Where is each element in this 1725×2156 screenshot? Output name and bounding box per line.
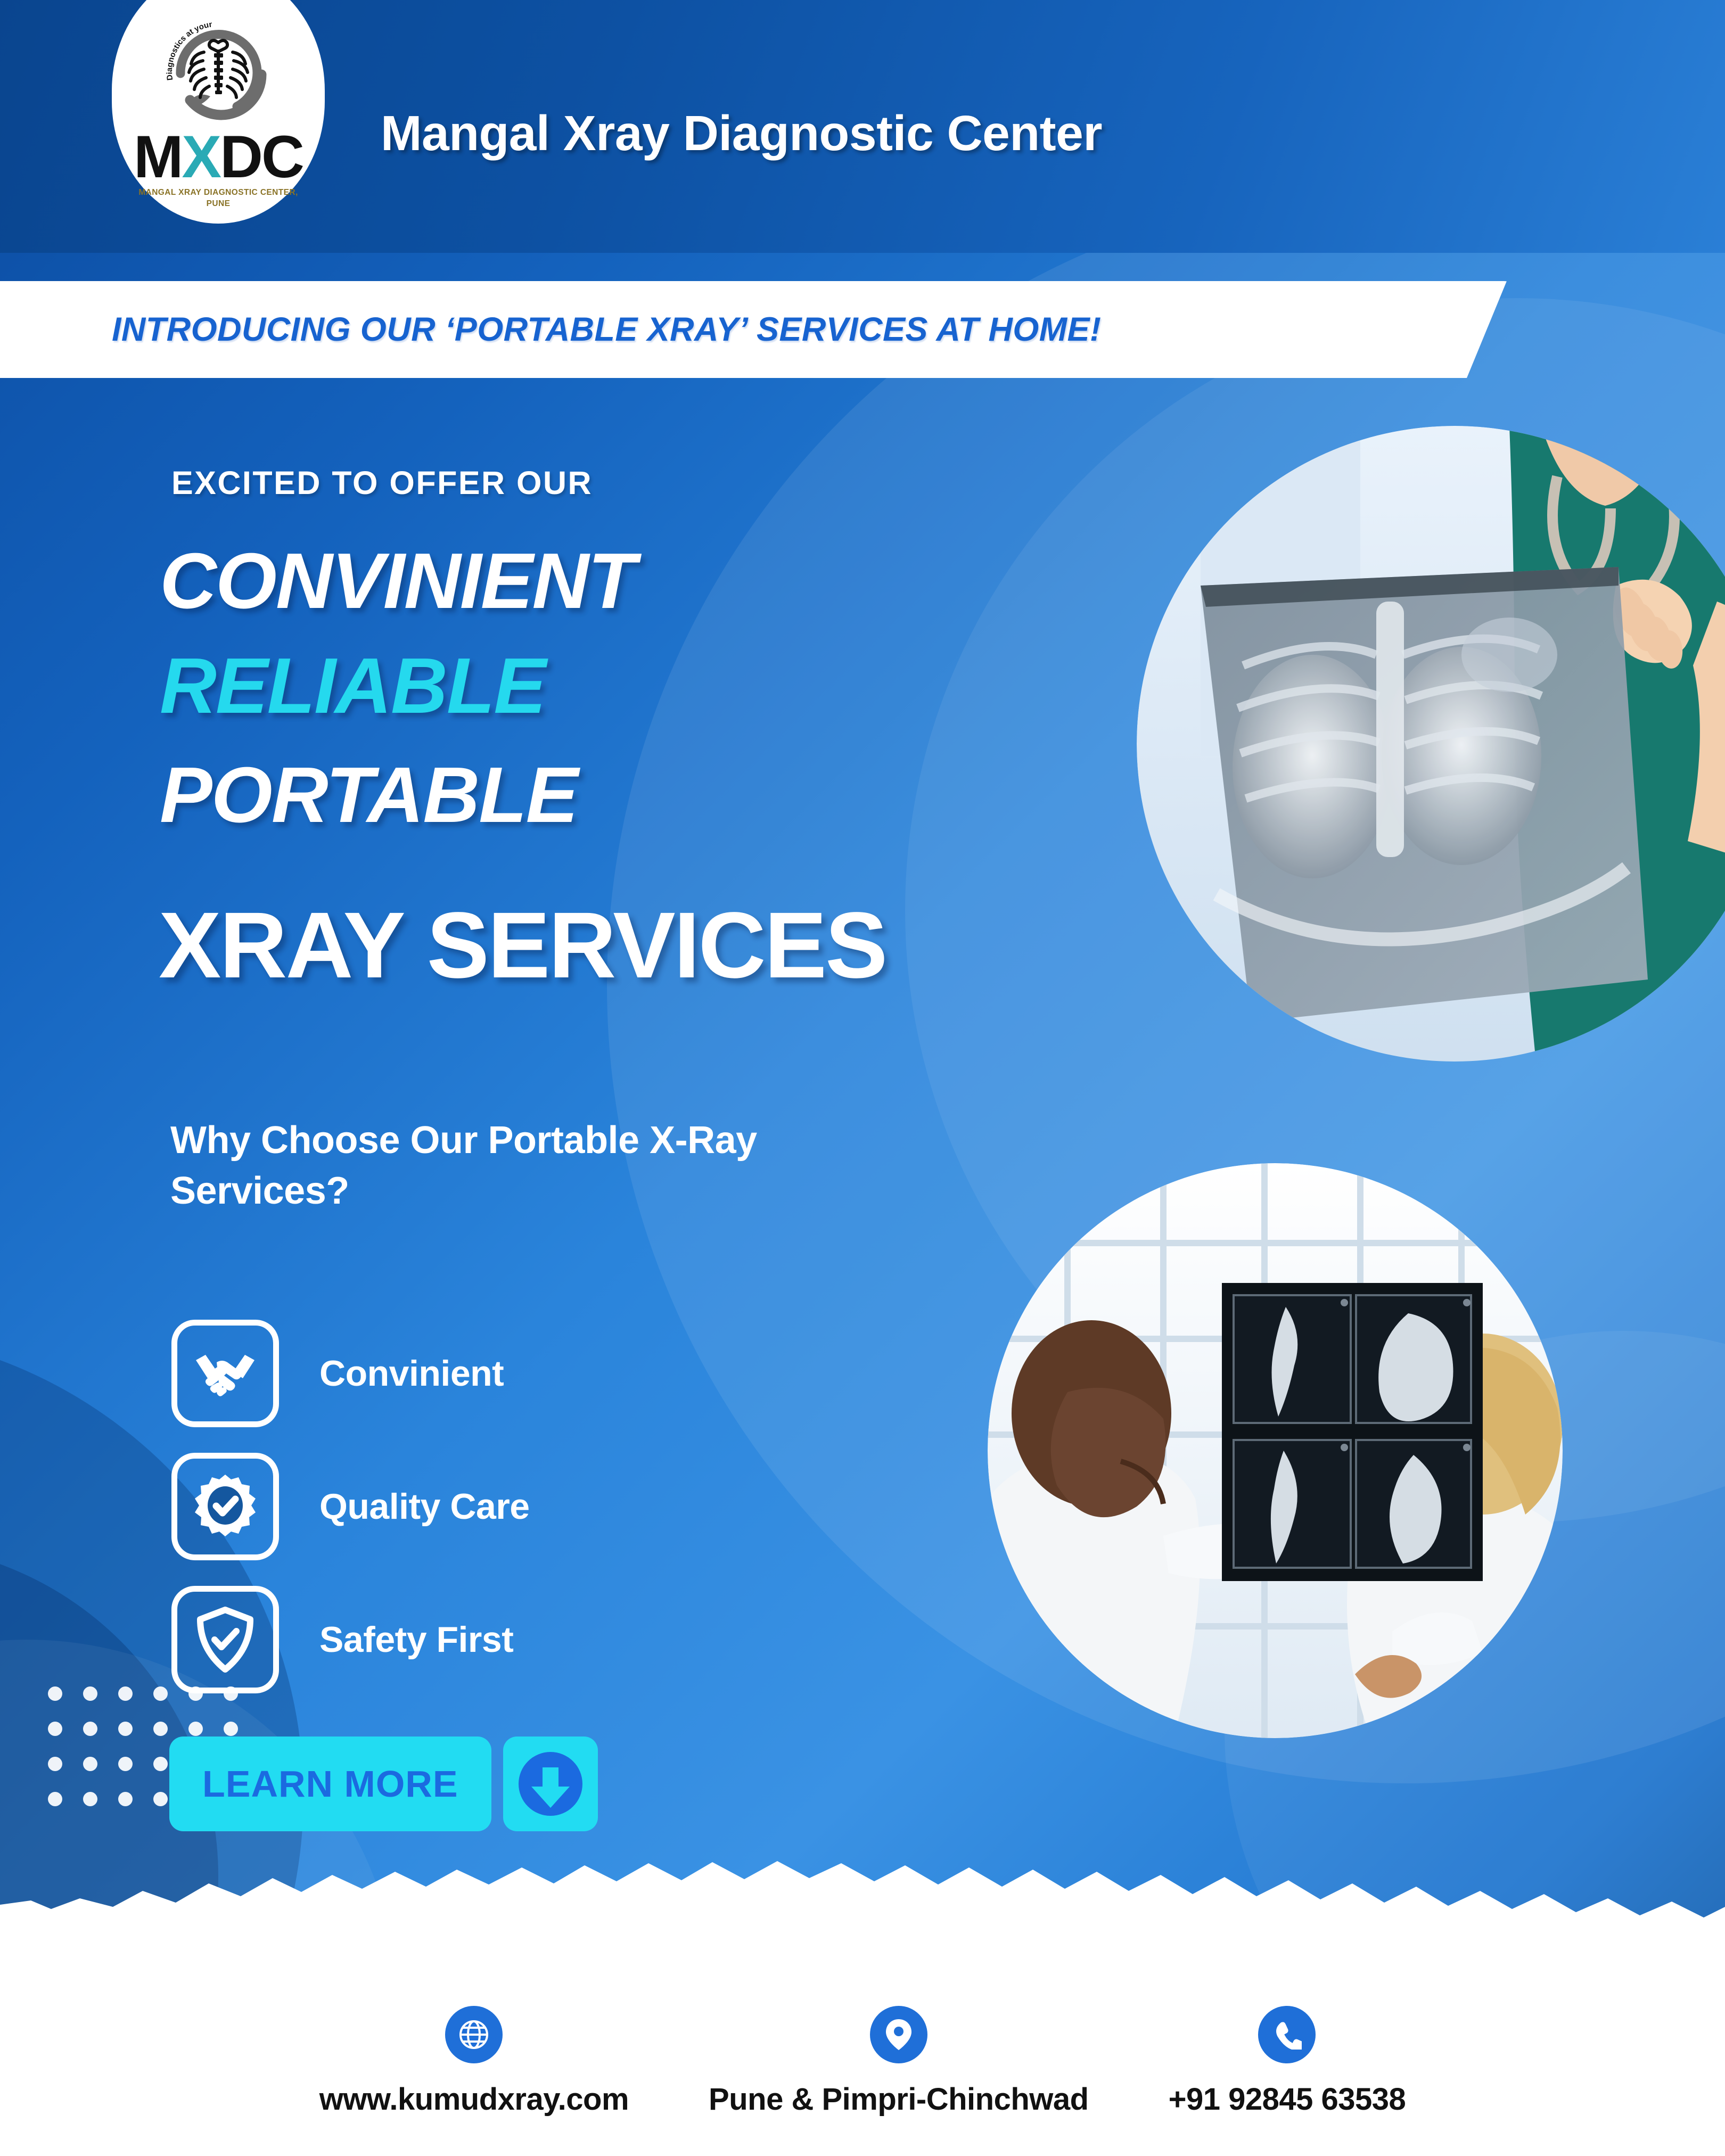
announcement-banner: INTRODUCING OUR ‘PORTABLE XRAY’ SERVICES… bbox=[0, 281, 1528, 378]
footer-bar: www.kumudxray.com Pune & Pimpri-Chinchwa… bbox=[0, 1932, 1725, 2156]
hero-line-xray-services: XRAY SERVICES bbox=[159, 899, 886, 992]
poster-root: Diagnostics at your home 24/7 MXDC MANGA… bbox=[0, 0, 1725, 2156]
shield-check-icon bbox=[171, 1586, 279, 1693]
logo-wordmark-dc: DC bbox=[220, 124, 303, 190]
logo-subtitle-line2: PUNE bbox=[138, 199, 298, 210]
hero-line-reliable: RELIABLE bbox=[160, 647, 545, 726]
quality-badge-check-icon bbox=[171, 1453, 279, 1560]
logo-plate: Diagnostics at your home 24/7 MXDC MANGA… bbox=[112, 0, 325, 224]
handshake-icon bbox=[171, 1320, 279, 1427]
brand-title: Mangal Xray Diagnostic Center bbox=[381, 105, 1102, 162]
logo-wordmark-x: X bbox=[182, 124, 220, 190]
logo-subtitle: MANGAL XRAY DIAGNOSTIC CENTER, PUNE bbox=[138, 187, 298, 210]
cta-row: LEARN MORE bbox=[169, 1737, 598, 1831]
circle-down-arrow-icon[interactable] bbox=[503, 1737, 598, 1831]
two-doctors-reviewing-scans-photo bbox=[988, 1163, 1563, 1738]
header-bar: Diagnostics at your home 24/7 MXDC MANGA… bbox=[0, 0, 1725, 253]
feature-list: Convinient Quality Care Safety First bbox=[171, 1307, 530, 1706]
feature-item-quality-care: Quality Care bbox=[171, 1440, 530, 1573]
hero-line-portable: PORTABLE bbox=[160, 756, 577, 835]
phone-icon bbox=[1258, 2006, 1316, 2063]
torn-paper-edge bbox=[0, 1854, 1725, 1933]
footer-item-website[interactable]: www.kumudxray.com bbox=[319, 2006, 629, 2117]
hero-eyebrow: EXCITED TO OFFER OUR bbox=[171, 464, 593, 501]
announcement-banner-text: INTRODUCING OUR ‘PORTABLE XRAY’ SERVICES… bbox=[112, 310, 1101, 349]
clinician-holding-chest-xray-photo bbox=[1137, 426, 1725, 1062]
feature-label-quality-care: Quality Care bbox=[319, 1486, 530, 1527]
ribcage-xray-mark-icon: Diagnostics at your home 24/7 bbox=[157, 15, 280, 129]
footer-website-text: www.kumudxray.com bbox=[319, 2081, 629, 2117]
location-pin-icon bbox=[870, 2006, 927, 2063]
footer-item-location[interactable]: Pune & Pimpri-Chinchwad bbox=[709, 2006, 1089, 2117]
learn-more-button[interactable]: LEARN MORE bbox=[169, 1737, 491, 1831]
footer-phone-text: +91 92845 63538 bbox=[1169, 2081, 1406, 2117]
footer-item-phone[interactable]: +91 92845 63538 bbox=[1169, 2006, 1406, 2117]
learn-more-label: LEARN MORE bbox=[202, 1763, 458, 1805]
logo-wordmark-m: M bbox=[134, 124, 182, 190]
logo-wordmark: MXDC bbox=[134, 130, 303, 184]
feature-label-convinient: Convinient bbox=[319, 1353, 504, 1394]
globe-icon bbox=[445, 2006, 503, 2063]
hero-line-convinient: CONVINIENT bbox=[160, 542, 635, 621]
footer-contact-list: www.kumudxray.com Pune & Pimpri-Chinchwa… bbox=[0, 1996, 1725, 2156]
logo-subtitle-line1: MANGAL XRAY DIAGNOSTIC CENTER, bbox=[138, 187, 298, 199]
feature-label-safety-first: Safety First bbox=[319, 1619, 513, 1660]
footer-location-text: Pune & Pimpri-Chinchwad bbox=[709, 2081, 1089, 2117]
why-choose-heading: Why Choose Our Portable X-Ray Services? bbox=[170, 1115, 942, 1216]
feature-item-convinient: Convinient bbox=[171, 1307, 530, 1440]
